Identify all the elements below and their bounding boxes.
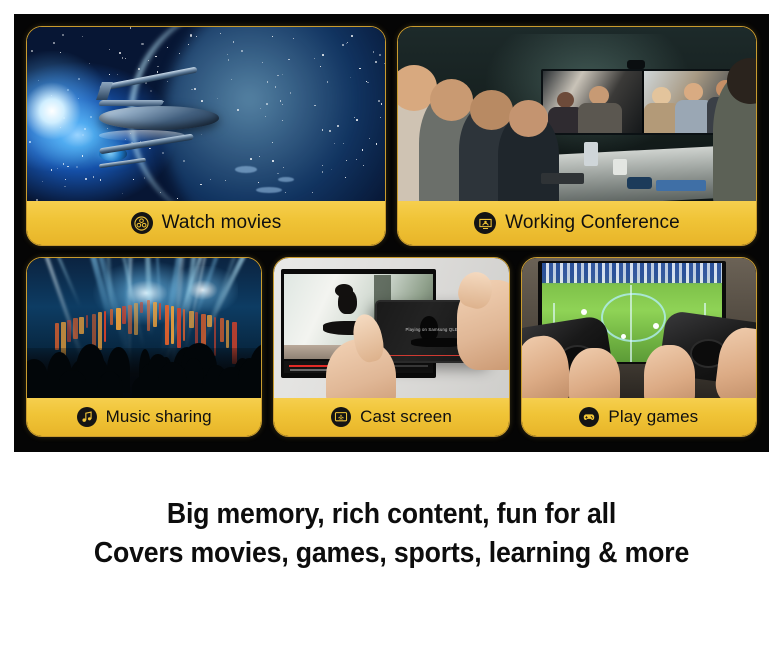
feature-card-working-conference[interactable]: Working Conference	[397, 26, 757, 246]
feature-card-cast-screen[interactable]: Playing on Samsung QLED	[273, 257, 509, 437]
watch-movies-artwork	[27, 27, 385, 201]
cast-screen-label-bar: Cast screen	[274, 398, 508, 436]
hand-right-fingers	[644, 345, 696, 398]
starship	[99, 76, 314, 146]
papers	[656, 180, 706, 190]
starship-neck	[97, 100, 164, 106]
music-note-icon	[77, 407, 97, 427]
hand-left-fingers	[569, 348, 621, 398]
starship-pylon	[96, 82, 113, 100]
player-marker-2	[653, 323, 659, 329]
working-conference-label: Working Conference	[505, 212, 680, 234]
halfway-line	[630, 285, 632, 363]
feature-card-music-sharing[interactable]: Music sharing	[26, 257, 262, 437]
crowd-silhouettes	[27, 258, 261, 398]
mug	[627, 177, 652, 189]
notebook	[541, 173, 584, 183]
play-games-label-bar: Play games	[522, 398, 756, 436]
feature-card-watch-movies[interactable]: Watch movies	[26, 26, 386, 246]
attendee-2-head	[430, 79, 473, 121]
remote-person-head-4	[684, 83, 703, 101]
remote-person-head-3	[652, 87, 671, 105]
promo-caption: Big memory, rich content, fun for all Co…	[0, 495, 783, 573]
cast-screen-label: Cast screen	[360, 407, 452, 427]
starship-saucer	[99, 106, 219, 130]
feature-row-top: Watch movies	[26, 26, 757, 246]
watch-movies-label-bar: Watch movies	[27, 201, 385, 245]
feature-card-play-games[interactable]: Play games	[521, 257, 757, 437]
cup	[613, 159, 627, 175]
music-sharing-label: Music sharing	[106, 407, 212, 427]
music-sharing-artwork	[27, 258, 261, 398]
phone-yogi-legs	[411, 338, 460, 346]
caption-line-2: Covers movies, games, sports, learning &…	[31, 534, 751, 573]
play-games-artwork	[522, 258, 756, 398]
conference-camera	[627, 60, 645, 69]
debris-2	[278, 177, 294, 182]
feature-panel: Watch movies	[14, 14, 769, 452]
remote-person-head-2	[589, 86, 609, 105]
feature-grid: Watch movies	[14, 14, 769, 452]
play-games-label: Play games	[608, 407, 698, 427]
remote-person-head-1	[557, 92, 574, 108]
video-call-panel-left	[543, 71, 644, 134]
yogi-head	[335, 284, 353, 297]
working-conference-artwork	[398, 27, 756, 201]
feature-row-bottom: Music sharing	[26, 257, 757, 437]
video-conference-icon	[474, 212, 496, 234]
screen-cast-icon	[331, 407, 351, 427]
gamepad-icon	[579, 407, 599, 427]
watch-movies-label: Watch movies	[162, 212, 282, 234]
remote-person-body-2	[578, 103, 622, 133]
center-circle	[601, 293, 666, 343]
cast-screen-artwork: Playing on Samsung QLED	[274, 258, 508, 398]
water-glass	[584, 142, 598, 166]
stadium-stands	[542, 263, 722, 283]
caption-line-1: Big memory, rich content, fun for all	[31, 495, 751, 534]
attendee-4-head	[509, 100, 548, 137]
player-marker-1	[581, 309, 587, 315]
promo-page: Watch movies	[0, 0, 783, 653]
music-sharing-label-bar: Music sharing	[27, 398, 261, 436]
working-conference-label-bar: Working Conference	[398, 201, 756, 245]
film-reel-icon	[131, 212, 153, 234]
